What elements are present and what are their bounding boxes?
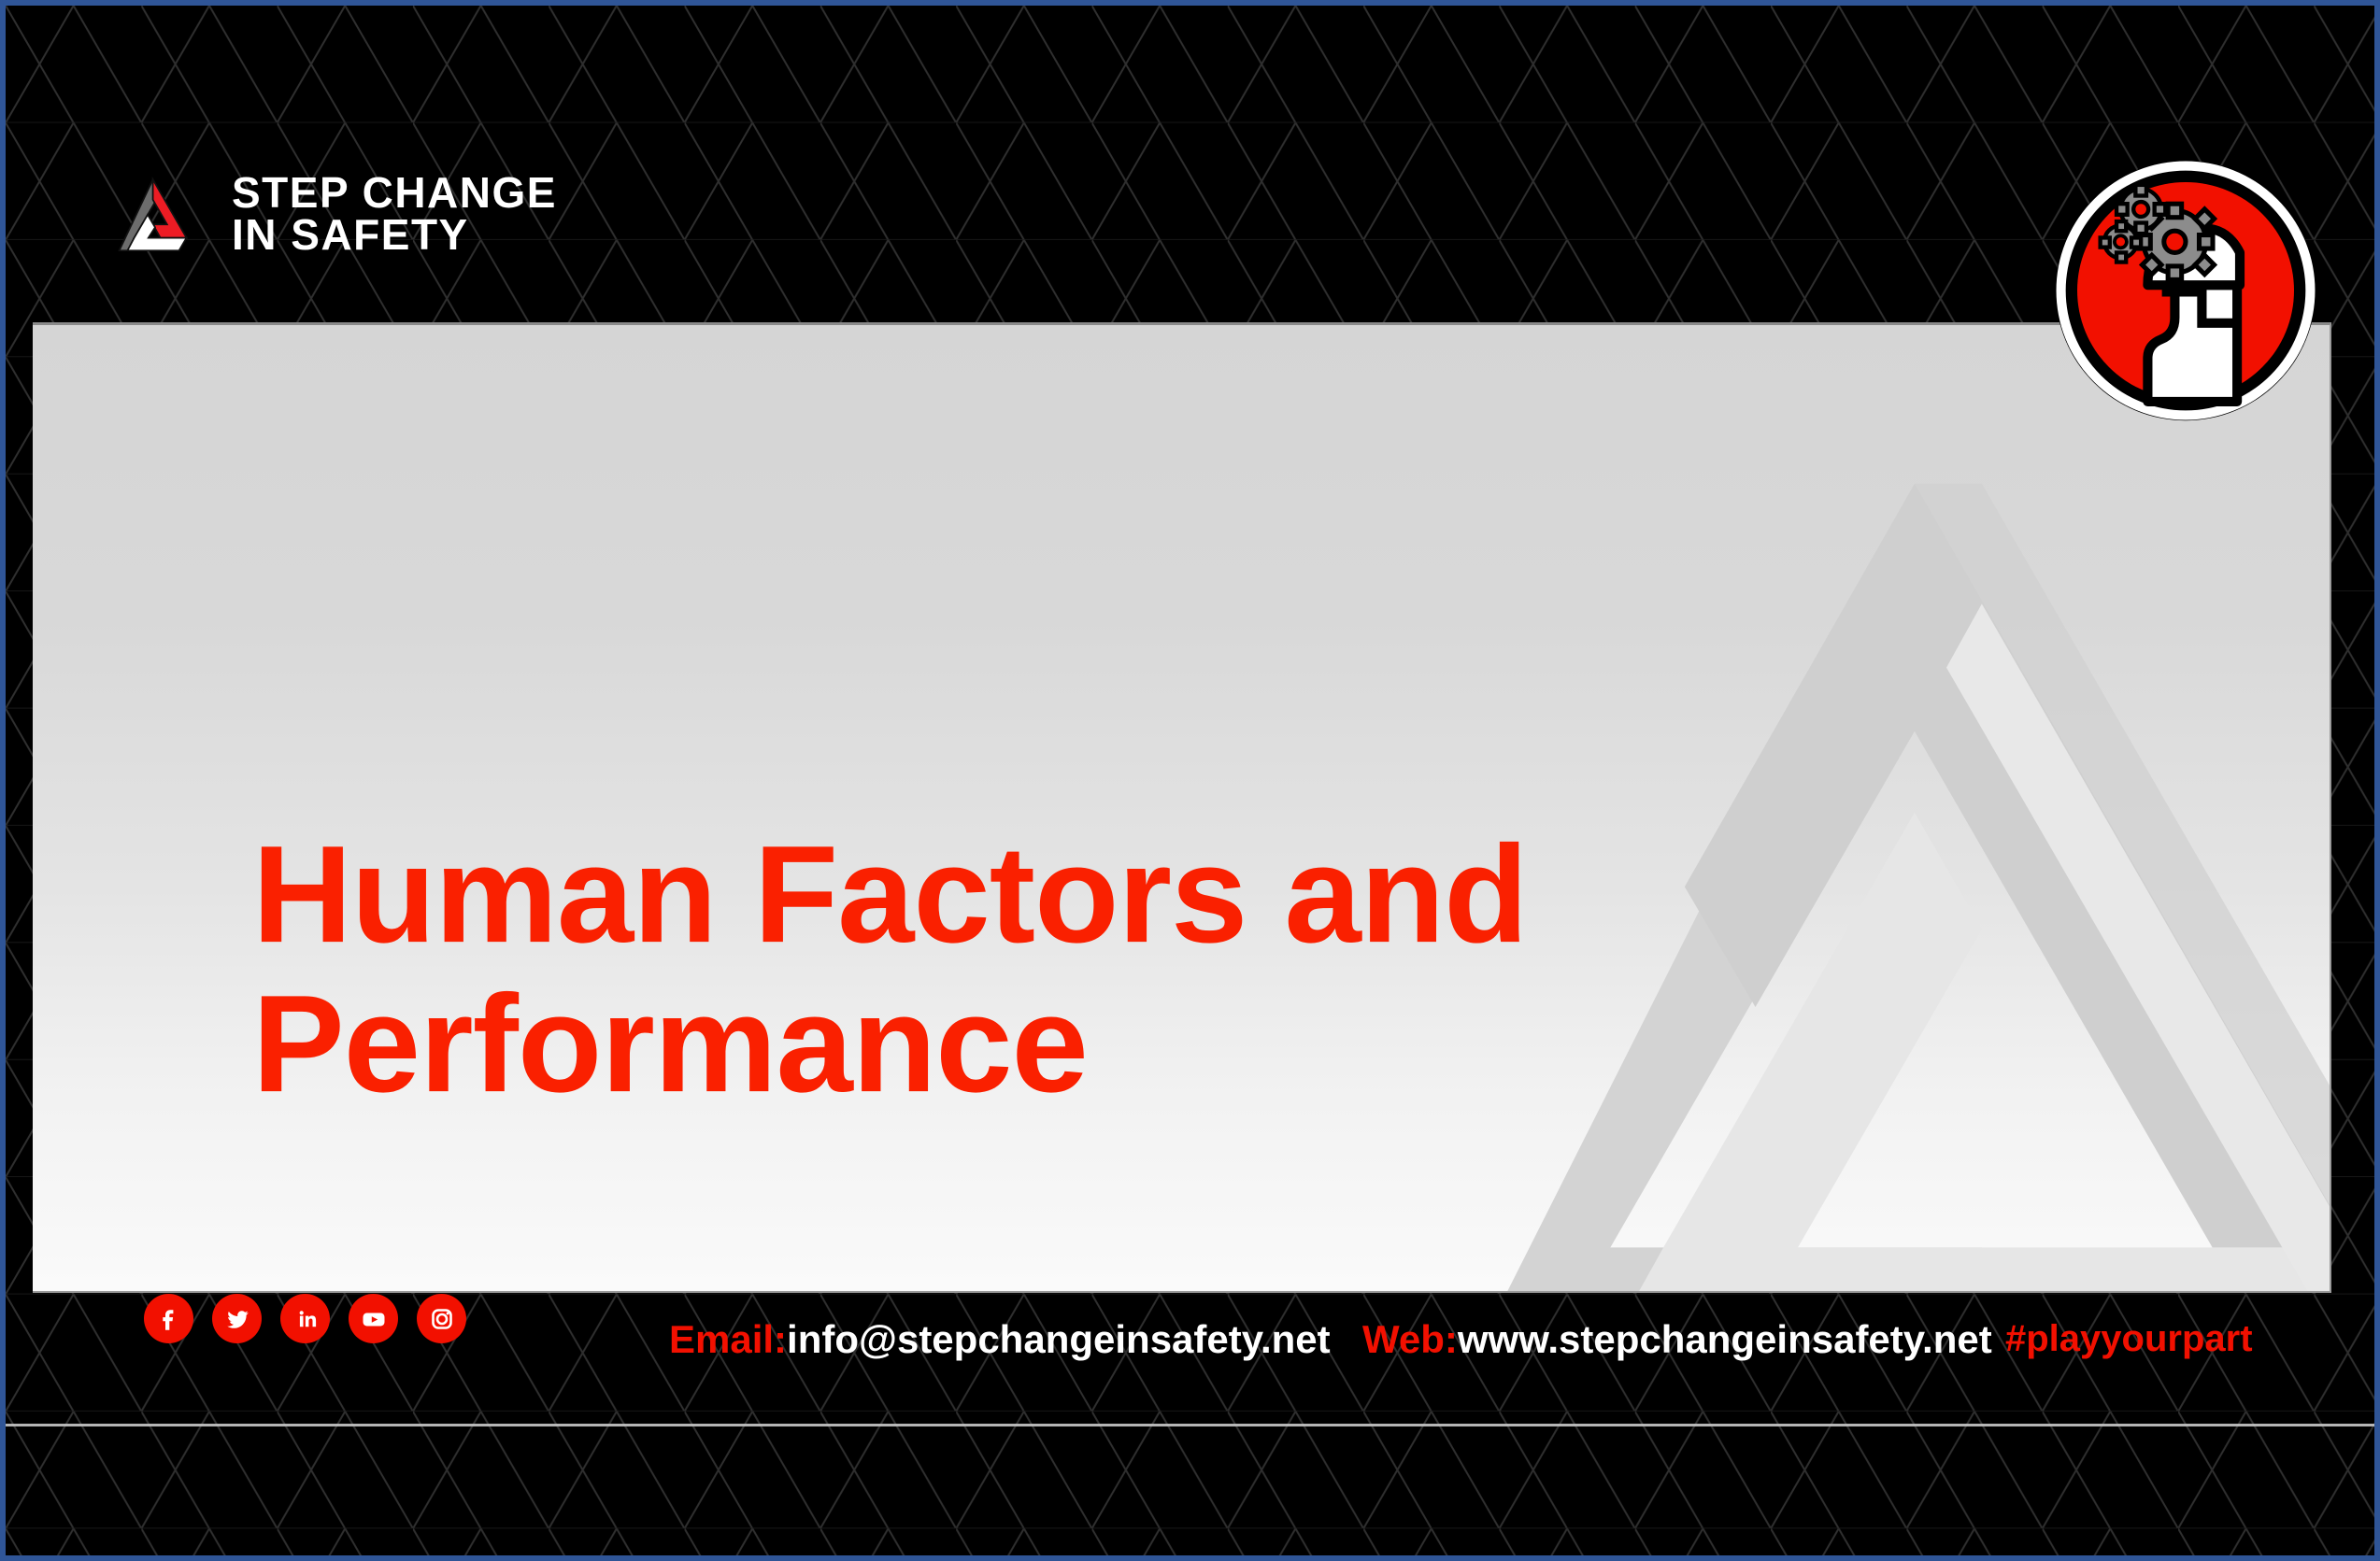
email-address[interactable]: info@stepchangeinsafety.net [787,1317,1331,1362]
penrose-triangle-logo-icon [118,177,200,251]
footer-divider [6,1424,2374,1426]
brand-line-1: STEP CHANGE [232,172,557,214]
youtube-icon[interactable] [349,1294,398,1343]
penrose-triangle-watermark-icon [1451,441,2331,1293]
presentation-slide: STEP CHANGE IN SAFETY [0,0,2380,1561]
email-label: Email: [669,1317,787,1362]
website-url[interactable]: www.stepchangeinsafety.net [1458,1317,1992,1362]
web-label: Web: [1362,1317,1458,1362]
brand-lockup: STEP CHANGE IN SAFETY [118,172,557,255]
linkedin-icon[interactable] [280,1294,330,1343]
brand-wordmark: STEP CHANGE IN SAFETY [232,172,557,255]
brand-line-2: IN SAFETY [232,214,557,256]
website-contact: Web: www.stepchangeinsafety.net [1362,1317,1992,1362]
human-factors-head-gears-icon [2050,155,2321,426]
email-contact: Email: info@stepchangeinsafety.net [669,1317,1331,1362]
campaign-hashtag: #playyourpart [2005,1318,2253,1360]
social-links [144,1294,466,1343]
page-title-line-2: Performance [252,970,1528,1119]
slide-header: STEP CHANGE IN SAFETY [6,6,2374,328]
instagram-icon[interactable] [417,1294,466,1343]
slide-footer: Email: info@stepchangeinsafety.net Web: … [6,1293,2374,1555]
page-title-line-1: Human Factors and [252,820,1528,970]
twitter-icon[interactable] [212,1294,262,1343]
page-title: Human Factors and Performance [252,820,1528,1119]
footer-content-row: Email: info@stepchangeinsafety.net Web: … [6,1293,2374,1424]
facebook-icon[interactable] [144,1294,193,1343]
content-panel: Human Factors and Performance [33,322,2331,1293]
